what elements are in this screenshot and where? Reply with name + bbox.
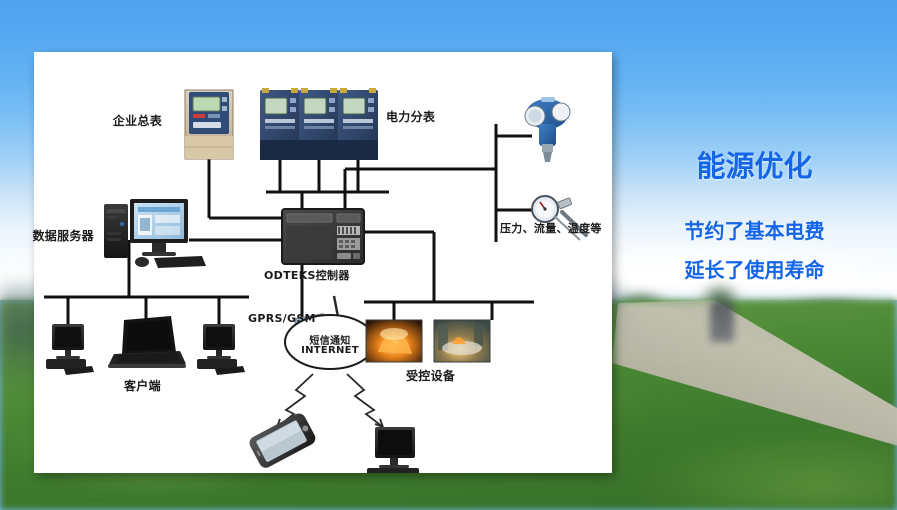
odteks-controller-icon (282, 209, 364, 264)
remote-smartphone-icon (247, 411, 318, 470)
label-data-server: 数据服务器 (32, 227, 94, 244)
pressure-transmitter-icon (525, 97, 570, 162)
copy-line-2: 延长了使用寿命 (612, 254, 897, 283)
client-laptop-icon (108, 316, 186, 368)
marketing-copy: 能源优化 节约了基本电费 延长了使用寿命 (612, 0, 897, 510)
label-sensors: 压力、流量、温度等 (500, 220, 602, 236)
copy-title: 能源优化 (612, 143, 897, 185)
power-sub-meter-icon (338, 88, 378, 160)
remote-desktop-icon (367, 427, 429, 473)
label-internet-line2: INTERNET (301, 345, 359, 356)
controlled-furnace-icon (366, 320, 422, 362)
label-controlled-equipment: 受控设备 (406, 367, 455, 384)
data-server-icon (104, 199, 206, 268)
client-desktop-icon (46, 324, 94, 375)
label-odteks-controller: ODTEKS控制器 (264, 267, 350, 283)
power-sub-meter-icon (299, 88, 339, 160)
label-gprs-gsm: GPRS/GSM (248, 312, 316, 325)
enterprise-main-meter-icon (185, 90, 233, 159)
label-clients: 客户端 (124, 377, 161, 394)
power-sub-meter-icon (260, 88, 300, 160)
copy-line-1: 节约了基本电费 (612, 215, 897, 244)
client-desktop-icon (197, 324, 245, 375)
controlled-furnace-icon (434, 320, 490, 362)
label-enterprise-main-meter: 企业总表 (113, 112, 162, 129)
label-power-sub-meters: 电力分表 (386, 108, 435, 125)
network-diagram-panel: 企业总表 电力分表 数据服务器 ODTEKS控制器 GPRS/GSM 压力、流量… (34, 52, 612, 473)
